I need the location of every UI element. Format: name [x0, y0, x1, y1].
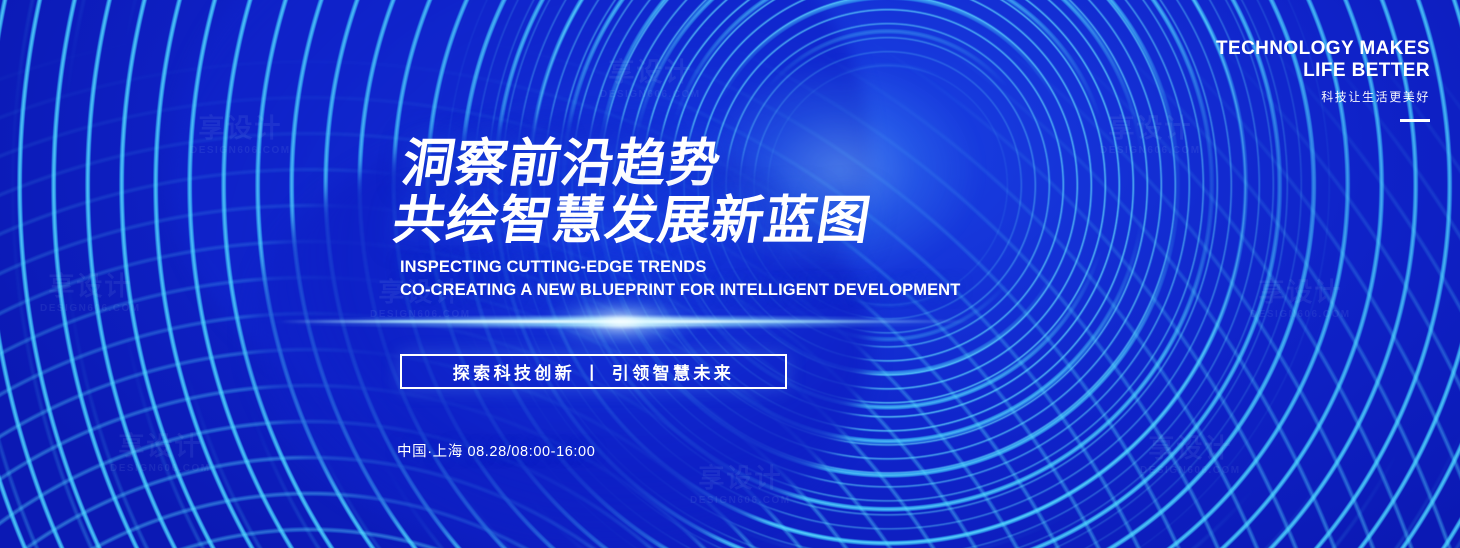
subtitle-line-2: CO-CREATING A NEW BLUEPRINT FOR INTELLIG…: [400, 279, 960, 302]
event-location-datetime: 中国·上海 08.28/08:00-16:00: [397, 440, 595, 461]
slogan-text: 探索科技创新 丨 引领智慧未来: [453, 359, 734, 384]
page-title: 洞察前沿趋势 共绘智慧发展新蓝图: [389, 136, 884, 250]
corner-tagline-block: TECHNOLOGY MAKES LIFE BETTER 科技让生活更美好: [1216, 38, 1430, 122]
headline-line-1: 洞察前沿趋势: [398, 136, 884, 193]
poster-content: TECHNOLOGY MAKES LIFE BETTER 科技让生活更美好 洞察…: [0, 0, 1460, 548]
corner-tagline-english: TECHNOLOGY MAKES LIFE BETTER: [1216, 38, 1430, 83]
subtitle-block: INSPECTING CUTTING-EDGE TRENDS CO-CREATI…: [400, 256, 960, 302]
tech-conference-banner: 享设计 DESIGN606.COM 享设计 DESIGN606.COM 享设计 …: [0, 0, 1460, 548]
headline-line-2: 共绘智慧发展新蓝图: [389, 193, 875, 250]
subtitle-line-1: INSPECTING CUTTING-EDGE TRENDS: [400, 256, 960, 279]
slogan-box: 探索科技创新 丨 引领智慧未来: [400, 354, 787, 389]
corner-divider-rule: [1400, 119, 1430, 122]
corner-tagline-chinese: 科技让生活更美好: [1216, 88, 1430, 105]
